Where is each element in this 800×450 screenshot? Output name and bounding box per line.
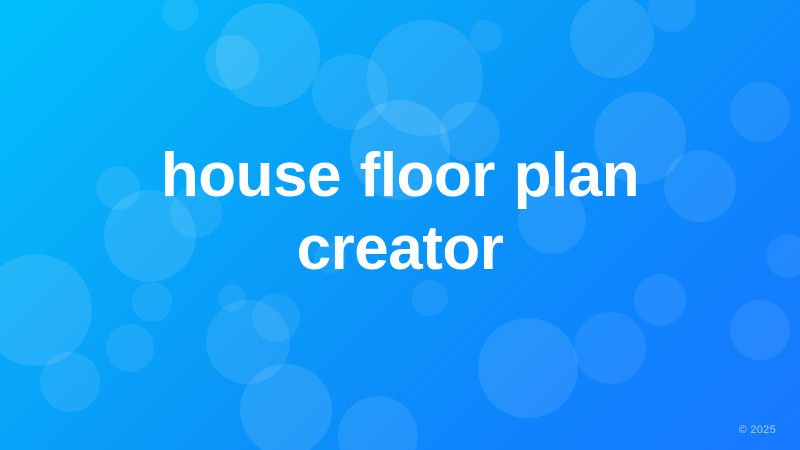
page-title: house floor plancreator <box>90 139 710 285</box>
title-container: house floor plancreator <box>0 0 800 450</box>
copyright-text: © 2025 <box>739 424 776 436</box>
page-title-line-1: house floor plan <box>90 139 710 212</box>
hero-banner: house floor plancreator © 2025 <box>0 0 800 450</box>
page-title-line-2: creator <box>90 212 710 285</box>
